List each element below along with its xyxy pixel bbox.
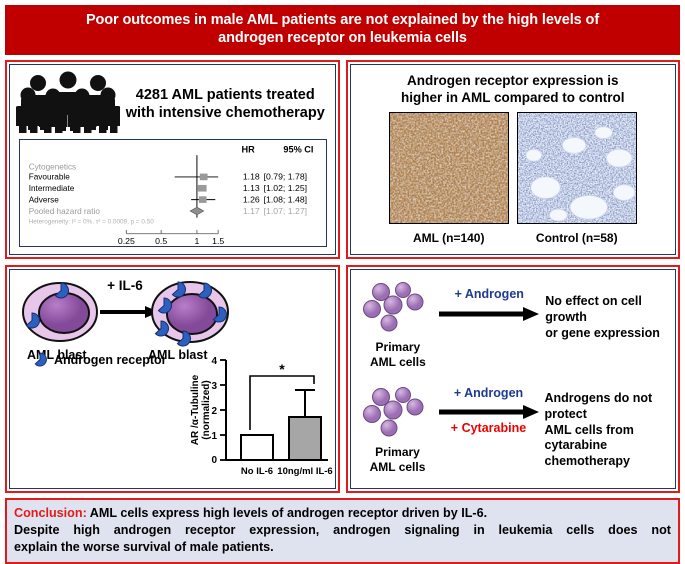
page-title: Poor outcomes in male AML patients are n… (5, 5, 680, 55)
ihc-caption-control: Control (n=58) (536, 231, 618, 245)
forest-row-label: Adverse (29, 196, 60, 205)
control-histology-image (517, 112, 637, 224)
conclusion-text: Conclusion: AML cells express high level… (14, 505, 671, 555)
people-group-icon (16, 71, 120, 138)
arrow-right-icon (437, 403, 541, 421)
title-line-1: Poor outcomes in male AML patients are n… (86, 12, 599, 28)
forest-col-hr: HR (242, 145, 256, 155)
forest-xtick-label: 1 (195, 237, 200, 247)
forest-effect-box (200, 174, 208, 181)
forest-row-label: Favourable (29, 173, 71, 182)
cohort-headline-line2: with intensive chemotherapy (126, 105, 325, 121)
treatment-arrow-1: + Androgen (437, 282, 541, 323)
conclusion-lead: Conclusion: (14, 506, 87, 520)
ihc-image-pair: AML (n=140) (351, 112, 676, 245)
cohort-header: 4281 AML patients treated with intensive… (10, 65, 335, 140)
panel-cohort-forest: 4281 AML patients treated with intensive… (5, 60, 340, 259)
il6-arrow (100, 306, 159, 318)
forest-effect-box (198, 185, 207, 192)
forest-pooled-diamond (190, 208, 204, 216)
bar-no-il6 (241, 435, 273, 460)
forest-plot-svg: HR 95% CI Cytogenetics Favourable 1.18 [… (20, 140, 326, 246)
conclusion-panel: Conclusion: AML cells express high level… (5, 498, 680, 563)
bar-xtick-label: 10ng/ml IL-6 (277, 466, 332, 477)
ihc-caption-aml: AML (n=140) (413, 231, 484, 245)
forest-xtick-label: 0.5 (155, 237, 167, 247)
cells-label-line1: Primary (376, 340, 421, 354)
bar-ytick-label: 1 (211, 431, 217, 442)
forest-pooled-label: Pooled hazard ratio (29, 207, 101, 216)
forest-heterogeneity: Heterogeneity: I² = 0%, τ² = 0.0009, p =… (29, 219, 155, 226)
experiment-result-2: Androgens do not protect AML cells from … (541, 387, 676, 469)
conclusion-line2: Despite high androgen receptor expressio… (14, 522, 671, 539)
blast-transformation-diagram: + IL-6 (18, 274, 233, 352)
experiment-row-2: Primary AML cells + Androgen + Cytarabin… (359, 387, 676, 473)
panel-experiments: Primary AML cells + Androgen (346, 265, 681, 493)
aml-cell-cluster-icon (359, 282, 437, 334)
bar-ytick-label: 3 (211, 381, 217, 392)
title-line-2: androgen receptor on leukemia cells (218, 30, 467, 46)
primary-aml-cells-2: Primary AML cells (359, 387, 437, 473)
bar-xtick-label: No IL-6 (241, 466, 273, 477)
ihc-control: Control (n=58) (517, 112, 637, 245)
aml-blast-left (23, 283, 97, 341)
forest-pooled-hr: 1.17 (243, 206, 260, 216)
panel-ihc: Androgen receptor expression is higher i… (346, 60, 681, 259)
result-line2: or gene expression (545, 326, 660, 340)
primary-aml-cells-label-1: Primary AML cells (359, 340, 438, 368)
il6-bar-chart: 0 1 2 3 4 AR /α-Tubuline (normalized) (186, 348, 334, 486)
forest-group-label: Cytogenetics (29, 163, 76, 172)
treatment-tag-androgen-2: + Androgen (437, 387, 541, 401)
arrow-right-icon (437, 305, 541, 323)
forest-hr-value: 1.18 (243, 172, 260, 182)
primary-aml-cells-1: Primary AML cells (359, 282, 438, 368)
forest-ci-value: [0.79; 1.78] (264, 172, 307, 182)
bar-error-bar (295, 390, 315, 417)
graphical-abstract: Poor outcomes in male AML patients are n… (0, 0, 685, 559)
conclusion-line1: AML cells express high levels of androge… (87, 506, 487, 520)
ihc-title-line1: Androgen receptor expression is (407, 73, 619, 88)
forest-hr-value: 1.26 (243, 195, 260, 205)
forest-ci-value: [1.02; 1.25] (264, 184, 307, 194)
forest-plot: HR 95% CI Cytogenetics Favourable 1.18 [… (19, 139, 327, 247)
aml-blast-right (152, 282, 228, 346)
bar-ylabel-line1: AR /α-Tubuline (190, 375, 201, 446)
forest-ci-value: [1.08; 1.48] (264, 195, 307, 205)
il6-arrow-label: + IL-6 (107, 278, 143, 293)
forest-hr-value: 1.13 (243, 184, 260, 194)
androgen-receptor-icon (32, 352, 47, 367)
forest-col-ci: 95% CI (283, 145, 313, 155)
bar-ytick-label: 0 (211, 455, 217, 466)
result-line2: AML cells from cytarabine (545, 423, 634, 453)
bar-ytick-label: 2 (211, 406, 217, 417)
receptor-legend-label: Androgen receptor (54, 353, 167, 367)
significance-marker: * (279, 361, 285, 377)
bar-ytick-label: 4 (211, 356, 217, 367)
panel-grid: 4281 AML patients treated with intensive… (5, 60, 680, 493)
forest-pooled-ci: [1.07; 1.27] (264, 206, 307, 216)
cohort-headline: 4281 AML patients treated with intensive… (124, 87, 327, 122)
experiment-result-1: No effect on cell growth or gene express… (541, 282, 675, 341)
receptor-legend: Androgen receptor (32, 352, 167, 367)
result-line1: No effect on cell growth (545, 294, 642, 324)
panel-il6: + IL-6 (5, 265, 340, 493)
result-line3: chemotherapy (545, 454, 630, 468)
aml-histology-image (389, 112, 509, 224)
forest-row-label: Intermediate (29, 185, 75, 194)
ihc-aml: AML (n=140) (389, 112, 509, 245)
cells-label-line2: AML cells (370, 355, 426, 369)
experiment-row-1: Primary AML cells + Androgen (359, 282, 676, 368)
cohort-headline-line1: 4281 AML patients treated (136, 87, 315, 103)
treatment-tag-androgen-1: + Androgen (437, 288, 541, 302)
forest-xtick-label: 0.25 (118, 237, 135, 247)
bar-ylabel-line2: (normalized) (201, 381, 212, 440)
ihc-title: Androgen receptor expression is higher i… (351, 65, 676, 109)
treatment-arrow-2: + Androgen + Cytarabine (437, 387, 541, 436)
forest-effect-box (199, 197, 207, 204)
forest-xtick-label: 1.5 (212, 237, 224, 247)
cells-label-line2: AML cells (370, 460, 426, 474)
treatment-tag-cytarabine: + Cytarabine (437, 422, 541, 436)
aml-cell-cluster-icon (359, 387, 437, 439)
result-line1: Androgens do not protect (545, 391, 653, 421)
primary-aml-cells-label-2: Primary AML cells (359, 445, 437, 473)
conclusion-line3: explain the worse survival of male patie… (14, 539, 671, 556)
bar-il6 (289, 417, 321, 460)
cells-label-line1: Primary (375, 445, 420, 459)
ihc-title-line2: higher in AML compared to control (401, 90, 625, 105)
